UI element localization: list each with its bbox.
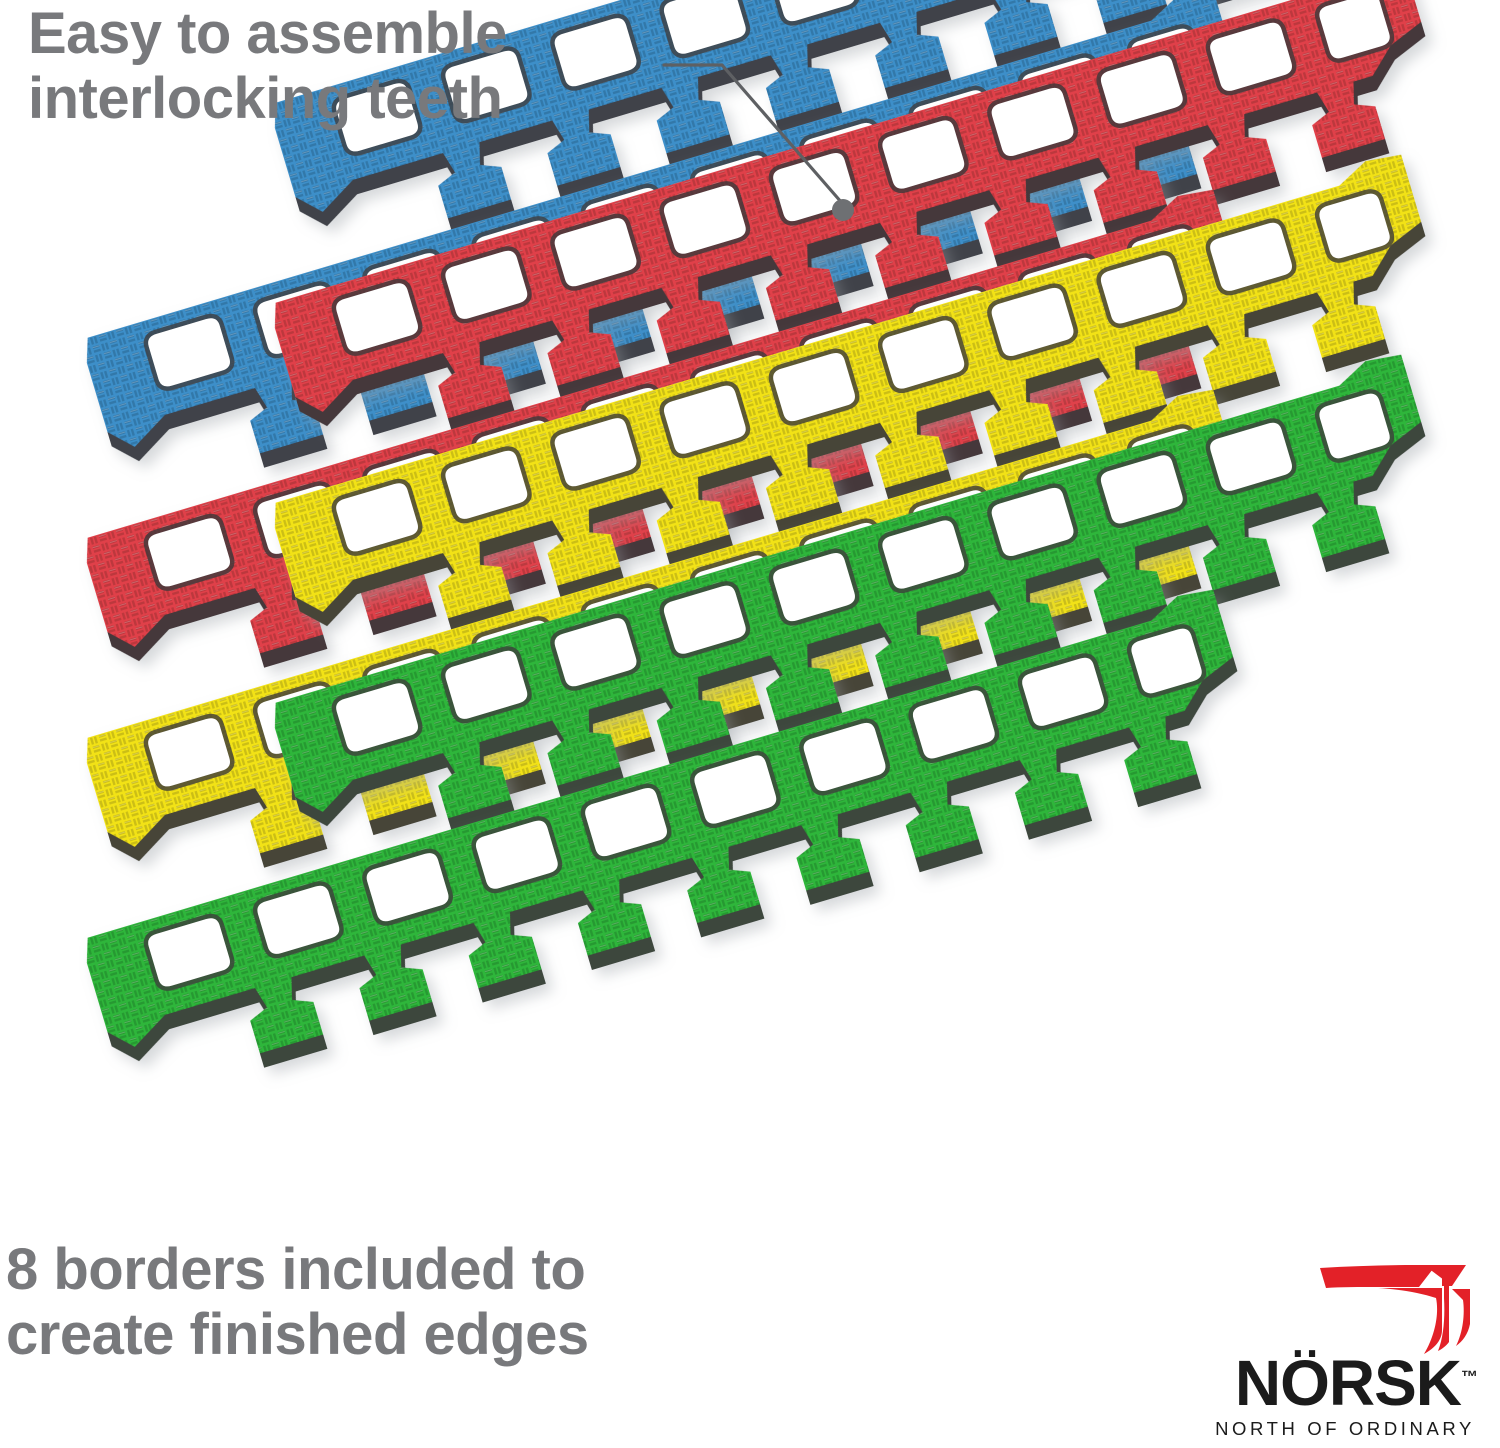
product-marketing-image: Easy to assemble interlocking teeth 8 bo… <box>0 0 1500 1448</box>
norsk-wordmark: NÖRSK™ <box>1148 1354 1478 1413</box>
norsk-brand-logo: NÖRSK™ NORTH OF ORDINARY <box>1148 1256 1478 1440</box>
headline-easy-to-assemble: Easy to assemble interlocking teeth <box>28 2 688 132</box>
trademark-symbol: ™ <box>1461 1368 1478 1387</box>
foam-border-strips-illustration <box>0 0 1500 1448</box>
norsk-wordmark-text: NÖRSK <box>1235 1347 1461 1419</box>
norsk-tagline: NORTH OF ORDINARY <box>1148 1418 1475 1440</box>
norsk-chevron-swoosh-icon <box>1318 1256 1476 1356</box>
footer-borders-included: 8 borders included to create finished ed… <box>6 1238 766 1368</box>
